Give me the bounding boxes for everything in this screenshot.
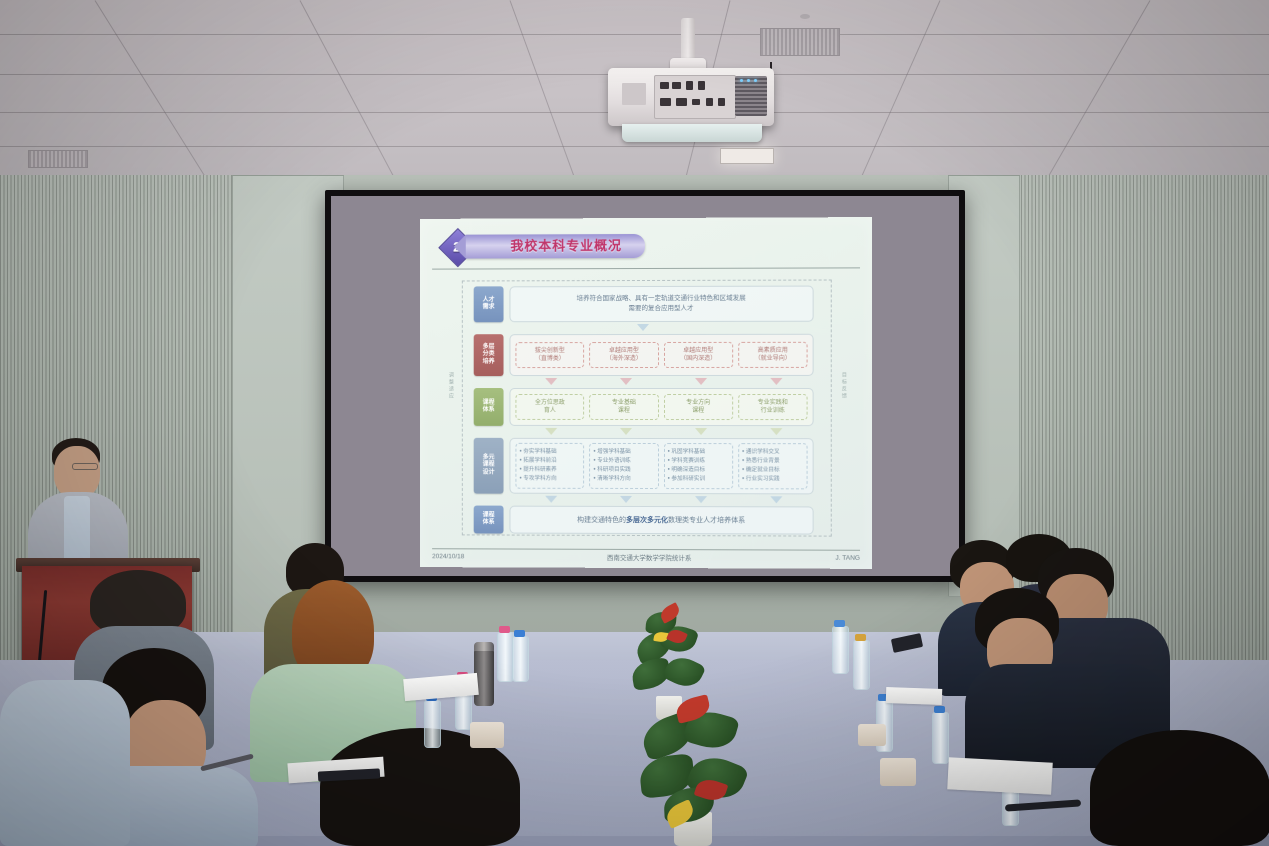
bottle-cap <box>834 620 845 627</box>
diagram-row-multilevel-training: 多层分类培养 拔尖创新型（直博类） 卓越应用型（海外深造） 卓越应用型（国内深造… <box>474 334 814 376</box>
row-tag-conclusion: 课程体系 <box>474 506 504 534</box>
training-framework-diagram: 调整适应 目标反馈 人才需求 培养符合国家战略、具有一定轨道交通行业特色和区域发… <box>444 275 848 538</box>
flow-arrow <box>770 428 782 435</box>
bottle-cap <box>514 630 525 637</box>
flow-arrow <box>545 428 557 435</box>
diagram-row-conclusion: 课程体系 构建交通特色的多层次多元化数理类专业人才培养体系 <box>474 506 814 535</box>
ceiling-projector <box>608 68 774 126</box>
cell-item: 卓越应用型（海外深造） <box>589 342 658 369</box>
cell-item: 专业实践和行业训练 <box>738 394 808 421</box>
paper-cup[interactable] <box>858 724 886 746</box>
paper-cup[interactable] <box>880 758 916 786</box>
ceiling-light <box>720 148 774 164</box>
title-divider <box>432 267 860 269</box>
flow-arrow <box>620 378 632 385</box>
ceiling-air-vent <box>760 28 840 56</box>
projection-screen: 2 我校本科专业概况 调整适应 目标反馈 人才需求 <box>325 190 965 582</box>
water-bottle[interactable] <box>424 700 441 748</box>
course-design-columns: 夯实学科基础拓展学科前沿提升科研素养专攻学科方向 增强学科基础专业外语训练科研项… <box>510 438 812 493</box>
slide-footer: 2024/10/18 西南交通大学数学学院统计系 J. TANG <box>432 549 860 565</box>
multilevel-cells: 拔尖创新型（直博类） 卓越应用型（海外深造） 卓越应用型（国内深造） 高素质应用… <box>510 337 812 372</box>
talent-demand-text: 培养符合国家战略、具有一定轨道交通行业特色和区域发展需要的复合应用型人才 <box>510 289 812 320</box>
flow-arrow <box>695 378 707 385</box>
course-system-cells: 全方位思政育人 专业基础课程 专业方向课程 专业实践和行业训练 <box>510 390 812 425</box>
presenter-head <box>54 446 100 498</box>
side-label-left: 调整适应 <box>448 372 453 400</box>
water-bottle[interactable] <box>853 640 870 690</box>
projector-exhaust-grill <box>735 76 767 116</box>
water-bottle[interactable] <box>832 626 849 674</box>
slide-title-row: 2 我校本科专业概况 <box>432 229 860 264</box>
flow-arrow <box>695 496 707 503</box>
flow-arrow <box>770 496 782 503</box>
flow-arrow <box>620 428 632 435</box>
bottle-cap <box>934 706 945 713</box>
bottle-cap <box>499 626 510 633</box>
bullet-column: 巩固学科基础学科竞赛训练明确深造目标参加科研实训 <box>664 443 733 490</box>
conference-room-photo: 2 我校本科专业概况 调整适应 目标反馈 人才需求 <box>0 0 1269 846</box>
document-sheet[interactable] <box>886 687 943 705</box>
water-bottle[interactable] <box>932 712 949 764</box>
thermos-lid <box>474 642 494 651</box>
diagram-row-talent-demand: 人才需求 培养符合国家战略、具有一定轨道交通行业特色和区域发展需要的复合应用型人… <box>474 286 814 323</box>
diagram-row-course-design: 多元课程设计 夯实学科基础拓展学科前沿提升科研素养专攻学科方向 增强学科基础专业… <box>474 438 814 495</box>
conclusion-text: 构建交通特色的多层次多元化数理类专业人才培养体系 <box>510 508 812 533</box>
row-tag-talent-demand: 人才需求 <box>474 286 504 322</box>
side-label-right: 目标反馈 <box>841 372 846 400</box>
flow-arrow <box>620 496 632 503</box>
diagram-row-course-system: 课程体系 全方位思政育人 专业基础课程 专业方向课程 专业实践和行业训练 <box>474 388 814 426</box>
flow-arrow <box>695 428 707 435</box>
row-tag-course-system: 课程体系 <box>474 388 504 426</box>
bullet-column: 夯实学科基础拓展学科前沿提升科研素养专攻学科方向 <box>515 442 584 489</box>
cell-item: 全方位思政育人 <box>515 394 584 421</box>
flow-arrow <box>545 496 557 503</box>
flow-arrow <box>637 324 649 331</box>
attendee-left-foreground <box>0 662 130 846</box>
paper-cup[interactable] <box>470 722 504 748</box>
footer-date: 2024/10/18 <box>432 553 464 560</box>
projector-lens-housing <box>622 124 762 142</box>
flow-arrow <box>545 378 557 385</box>
cell-item: 专业方向课程 <box>664 394 733 421</box>
bullet-column: 增强学科基础专业外语训练科研项目实践清晰学科方向 <box>589 442 658 489</box>
cell-item: 高素质应用（就业导向） <box>738 341 808 368</box>
notepad[interactable] <box>947 757 1053 794</box>
presentation-slide: 2 我校本科专业概况 调整适应 目标反馈 人才需求 <box>420 217 872 569</box>
cell-item: 专业基础课程 <box>589 394 658 421</box>
attendee-right-foreground <box>1090 730 1269 846</box>
bottle-cap <box>855 634 866 641</box>
flow-arrow <box>770 378 782 385</box>
ceiling-air-vent <box>28 150 88 168</box>
water-bottle[interactable] <box>512 636 529 682</box>
footer-organization: 西南交通大学数学学院统计系 <box>607 552 691 562</box>
attendee-torso <box>0 680 130 846</box>
page-title: 我校本科专业概况 <box>482 235 651 255</box>
footer-author: J. TANG <box>835 554 860 561</box>
attendee-hair <box>1090 730 1269 846</box>
table-plant <box>640 672 750 846</box>
cell-item: 卓越应用型（国内深造） <box>664 342 733 369</box>
row-tag-multilevel-training: 多层分类培养 <box>474 334 504 376</box>
row-tag-course-design: 多元课程设计 <box>474 438 504 494</box>
cell-item: 拔尖创新型（直博类） <box>515 342 584 369</box>
smoke-detector-icon <box>800 14 810 19</box>
bullet-column: 通识学科交叉熟悉行业背景确定就业目标行业实习实践 <box>738 443 808 490</box>
